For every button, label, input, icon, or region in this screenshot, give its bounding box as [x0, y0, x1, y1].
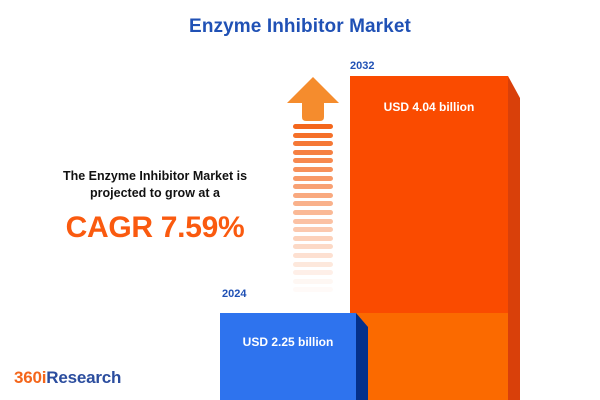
- arrow-stripe: [293, 270, 333, 275]
- cagr-value: CAGR 7.59%: [30, 211, 280, 245]
- arrow-stripe: [293, 201, 333, 206]
- arrow-stripe: [293, 167, 333, 172]
- arrow-stripe: [293, 219, 333, 224]
- bar-value-2032: USD 4.04 billion: [350, 100, 508, 114]
- arrow-stripe: [293, 141, 333, 146]
- arrow-stripes: [293, 124, 333, 290]
- statement-line-2: projected to grow at a: [90, 186, 220, 200]
- up-arrow-head-icon: [286, 76, 340, 122]
- bar-value-2024: USD 2.25 billion: [220, 335, 356, 349]
- arrow-stripe: [293, 133, 333, 138]
- arrow-stripe: [293, 184, 333, 189]
- arrow-stripe: [293, 236, 333, 241]
- logo-360i-text: 360i: [14, 368, 46, 387]
- page-title: Enzyme Inhibitor Market: [0, 16, 600, 38]
- arrow-stripe: [293, 287, 333, 292]
- arrow-stripe: [293, 176, 333, 181]
- arrow-stripe: [293, 193, 333, 198]
- arrow-stripe: [293, 158, 333, 163]
- bar-2024-side: [356, 313, 368, 400]
- bar-2032: USD 4.04 billion: [350, 76, 520, 400]
- bar-label-2032: 2032: [350, 60, 374, 72]
- arrow-stripe: [293, 124, 333, 129]
- bar-2024: USD 2.25 billion: [220, 313, 368, 400]
- logo-research-text: Research: [46, 368, 121, 387]
- growth-arrow-icon: [286, 76, 340, 290]
- bar-2024-front: USD 2.25 billion: [220, 313, 356, 400]
- arrow-stripe: [293, 210, 333, 215]
- statement-line-1: The Enzyme Inhibitor Market is: [63, 169, 247, 183]
- infographic-canvas: Enzyme Inhibitor Market The Enzyme Inhib…: [0, 0, 600, 400]
- brand-logo[interactable]: 360iResearch: [14, 368, 121, 388]
- arrow-stripe: [293, 227, 333, 232]
- arrow-stripe: [293, 262, 333, 267]
- arrow-stripe: [293, 279, 333, 284]
- bar-2032-front-upper: USD 4.04 billion: [350, 76, 508, 313]
- statement-block: The Enzyme Inhibitor Market is projected…: [30, 168, 280, 245]
- bar-2032-side: [508, 76, 520, 400]
- statement-text: The Enzyme Inhibitor Market is projected…: [30, 168, 280, 202]
- bar-2032-front-lower: [350, 313, 508, 400]
- arrow-stripe: [293, 253, 333, 258]
- bar-label-2024: 2024: [222, 288, 246, 300]
- arrow-stripe: [293, 244, 333, 249]
- arrow-stripe: [293, 150, 333, 155]
